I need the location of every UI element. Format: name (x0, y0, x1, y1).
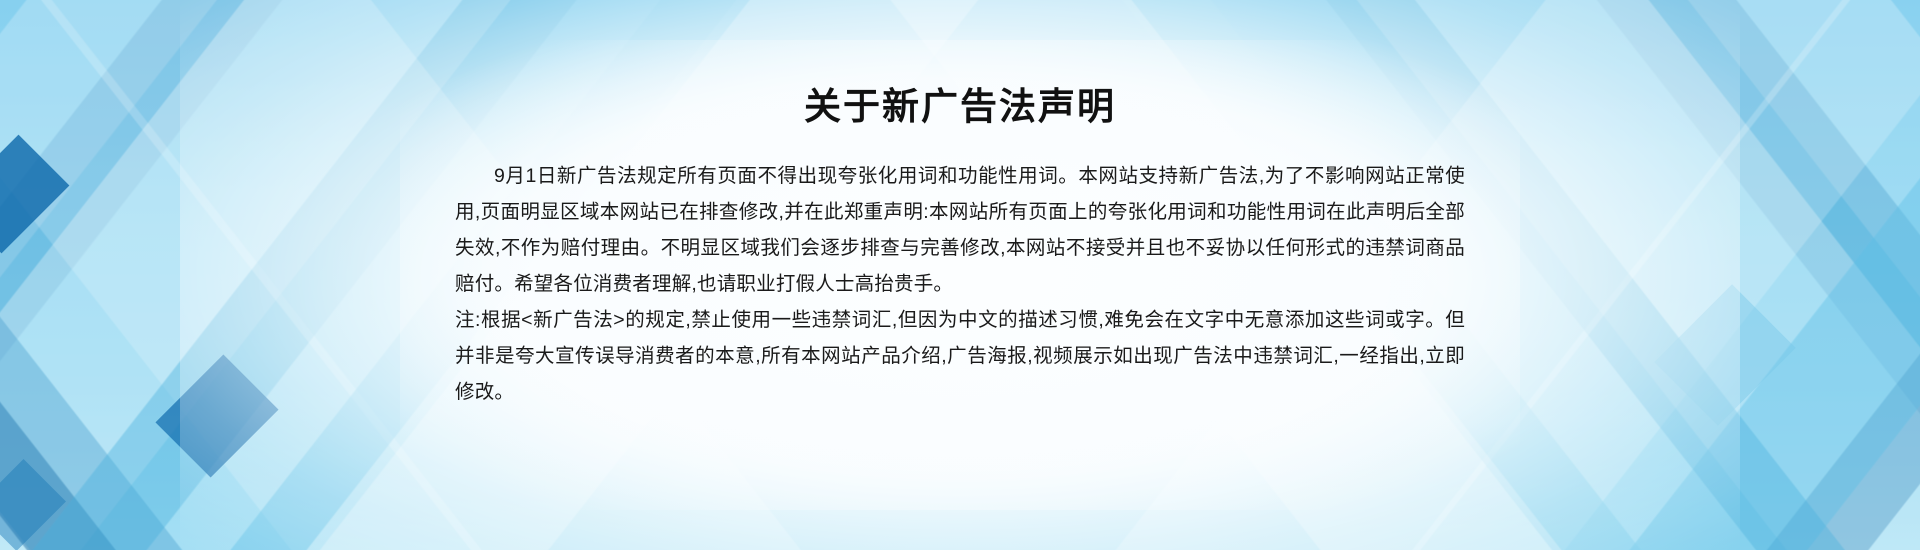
page-title: 关于新广告法声明 (455, 84, 1465, 130)
statement-paragraph-2: 注:根据<新广告法>的规定,禁止使用一些违禁词汇,但因为中文的描述习惯,难免会在… (455, 302, 1465, 410)
advertising-law-statement-banner: 关于新广告法声明 9月1日新广告法规定所有页面不得出现夸张化用词和功能性用词。本… (0, 0, 1920, 550)
statement-content: 关于新广告法声明 9月1日新广告法规定所有页面不得出现夸张化用词和功能性用词。本… (455, 0, 1465, 550)
statement-paragraph-1: 9月1日新广告法规定所有页面不得出现夸张化用词和功能性用词。本网站支持新广告法,… (455, 158, 1465, 302)
statement-body: 9月1日新广告法规定所有页面不得出现夸张化用词和功能性用词。本网站支持新广告法,… (455, 158, 1465, 410)
